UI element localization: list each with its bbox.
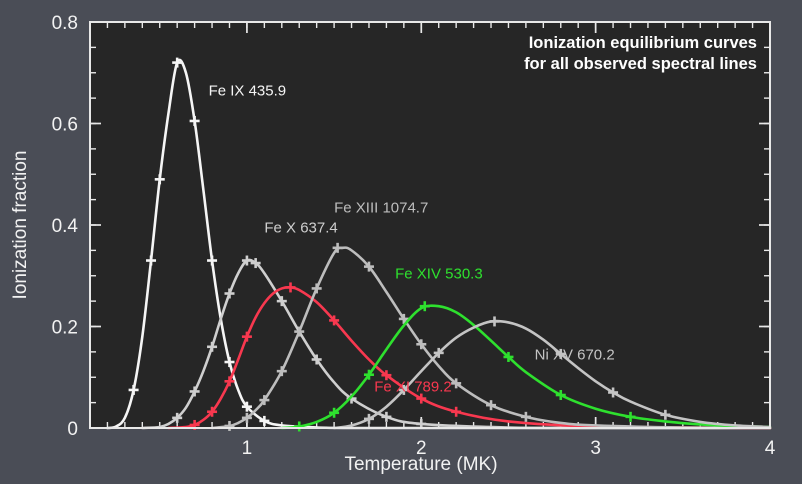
ionization-equilibrium-figure: 1234 00.20.40.60.8 Fe IX 435.9Fe X 637.4… bbox=[0, 0, 802, 484]
plot-canvas: 1234 00.20.40.60.8 Fe IX 435.9Fe X 637.4… bbox=[0, 0, 802, 484]
curve-label-ni-xv-670-2: Ni XV 670.2 bbox=[535, 346, 615, 363]
plot-title-line-2: for all observed spectral lines bbox=[524, 55, 757, 73]
x-tick-label: 1 bbox=[242, 438, 253, 459]
x-tick-label: 3 bbox=[590, 438, 601, 459]
curve-label-fe-x-637-4: Fe X 637.4 bbox=[264, 220, 337, 237]
y-axis-title: Ionization fraction bbox=[10, 151, 31, 300]
y-tick-label: 0 bbox=[67, 419, 78, 440]
x-tick-label: 4 bbox=[765, 438, 776, 459]
curve-label-fe-ix-435-9: Fe IX 435.9 bbox=[209, 83, 287, 100]
y-tick-label: 0.8 bbox=[52, 13, 78, 34]
y-tick-label: 0.2 bbox=[52, 318, 78, 339]
plot-title-line-1: Ionization equilibrium curves bbox=[529, 34, 757, 52]
curve-label-fe-xiii-1074-7: Fe XIII 1074.7 bbox=[334, 199, 428, 216]
y-tick-label: 0.4 bbox=[52, 216, 79, 237]
y-tick-label: 0.6 bbox=[52, 115, 78, 136]
x-axis-title: Temperature (MK) bbox=[344, 454, 497, 475]
curve-label-fe-xi-789-2: Fe XI 789.2 bbox=[374, 378, 452, 395]
plot-area-background bbox=[90, 22, 770, 428]
curve-label-fe-xiv-530-3: Fe XIV 530.3 bbox=[395, 265, 483, 282]
